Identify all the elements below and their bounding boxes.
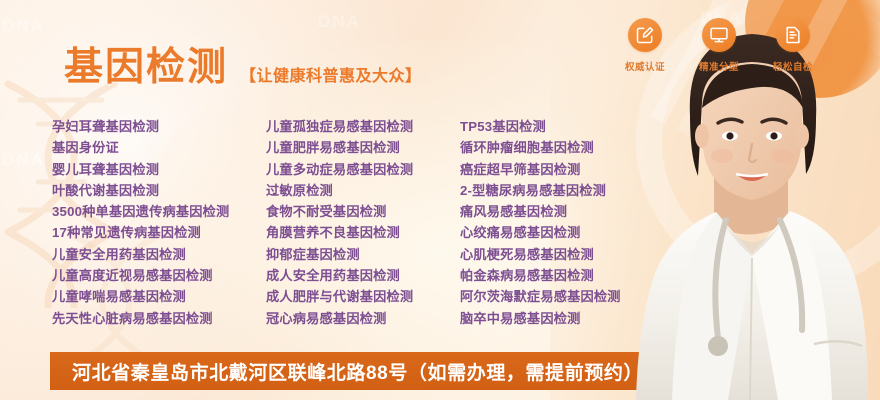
list-item[interactable]: 抑郁症基因检测 bbox=[266, 244, 460, 265]
certificate-edit-icon bbox=[628, 18, 662, 52]
list-item[interactable]: 冠心病易感基因检测 bbox=[266, 308, 460, 329]
brand-watermark: DNA bbox=[2, 16, 45, 36]
list-item[interactable]: 儿童肥胖易感基因检测 bbox=[266, 137, 460, 158]
brand-watermark: DNA bbox=[318, 12, 361, 32]
gene-testing-poster: DNA DNA DNA DNA 基因检测 【让健康科普惠及大众】 权威认证 bbox=[0, 0, 880, 400]
list-item[interactable]: 帕金森病易感基因检测 bbox=[460, 265, 680, 286]
report-document-icon bbox=[776, 18, 810, 52]
list-item[interactable]: 儿童多动症易感基因检测 bbox=[266, 159, 460, 180]
service-column-3: TP53基因检测 循环肿瘤细胞基因检测 癌症超早筛基因检测 2-型糖尿病易感基因… bbox=[460, 116, 680, 329]
address-banner: 河北省秦皇岛市北戴河区联峰北路88号（如需办理，需提前预约） bbox=[50, 352, 790, 390]
list-item[interactable]: 角膜营养不良基因检测 bbox=[266, 222, 460, 243]
list-item[interactable]: 脑卒中易感基因检测 bbox=[460, 308, 680, 329]
list-item[interactable]: 儿童孤独症易感基因检测 bbox=[266, 116, 460, 137]
list-item[interactable]: 婴儿耳聋基因检测 bbox=[52, 159, 266, 180]
list-item[interactable]: 叶酸代谢基因检测 bbox=[52, 180, 266, 201]
list-item[interactable]: 癌症超早筛基因检测 bbox=[460, 159, 680, 180]
feature-badge-group: 权威认证 精准分型 轻松自检 bbox=[620, 18, 818, 73]
list-item[interactable]: 成人肥胖与代谢基因检测 bbox=[266, 286, 460, 307]
list-item[interactable]: 心绞痛易感基因检测 bbox=[460, 222, 680, 243]
address-text: 河北省秦皇岛市北戴河区联峰北路88号（如需办理，需提前预约） bbox=[72, 358, 643, 385]
list-item[interactable]: 过敏原检测 bbox=[266, 180, 460, 201]
feature-badge-typing[interactable]: 精准分型 bbox=[694, 18, 744, 73]
list-item[interactable]: 阿尔茨海默症易感基因检测 bbox=[460, 286, 680, 307]
poster-header: 基因检测 【让健康科普惠及大众】 bbox=[64, 46, 422, 90]
service-column-2: 儿童孤独症易感基因检测 儿童肥胖易感基因检测 儿童多动症易感基因检测 过敏原检测… bbox=[266, 116, 460, 329]
list-item[interactable]: TP53基因检测 bbox=[460, 116, 680, 137]
list-item[interactable]: 循环肿瘤细胞基因检测 bbox=[460, 137, 680, 158]
service-column-1: 孕妇耳聋基因检测 基因身份证 婴儿耳聋基因检测 叶酸代谢基因检测 3500种单基… bbox=[52, 116, 266, 329]
list-item[interactable]: 儿童高度近视易感基因检测 bbox=[52, 265, 266, 286]
list-item[interactable]: 儿童安全用药基因检测 bbox=[52, 244, 266, 265]
list-item[interactable]: 食物不耐受基因检测 bbox=[266, 201, 460, 222]
list-item[interactable]: 17种常见遗传病基因检测 bbox=[52, 222, 266, 243]
brand-watermark: DNA bbox=[2, 150, 45, 170]
list-item[interactable]: 心肌梗死易感基因检测 bbox=[460, 244, 680, 265]
list-item[interactable]: 基因身份证 bbox=[52, 137, 266, 158]
service-list: 孕妇耳聋基因检测 基因身份证 婴儿耳聋基因检测 叶酸代谢基因检测 3500种单基… bbox=[52, 116, 680, 329]
list-item[interactable]: 2-型糖尿病易感基因检测 bbox=[460, 180, 680, 201]
list-item[interactable]: 先天性心脏病易感基因检测 bbox=[52, 308, 266, 329]
feature-label: 精准分型 bbox=[699, 59, 739, 73]
list-item[interactable]: 成人安全用药基因检测 bbox=[266, 265, 460, 286]
page-subtitle: 【让健康科普惠及大众】 bbox=[240, 62, 422, 86]
feature-label: 权威认证 bbox=[625, 59, 665, 73]
list-item[interactable]: 孕妇耳聋基因检测 bbox=[52, 116, 266, 137]
monitor-icon bbox=[702, 18, 736, 52]
list-item[interactable]: 3500种单基因遗传病基因检测 bbox=[52, 201, 266, 222]
feature-label: 轻松自检 bbox=[773, 59, 813, 73]
page-title: 基因检测 bbox=[64, 46, 228, 90]
feature-badge-authority[interactable]: 权威认证 bbox=[620, 18, 670, 73]
list-item[interactable]: 儿童哮喘易感基因检测 bbox=[52, 286, 266, 307]
list-item[interactable]: 痛风易感基因检测 bbox=[460, 201, 680, 222]
feature-badge-self-check[interactable]: 轻松自检 bbox=[768, 18, 818, 73]
